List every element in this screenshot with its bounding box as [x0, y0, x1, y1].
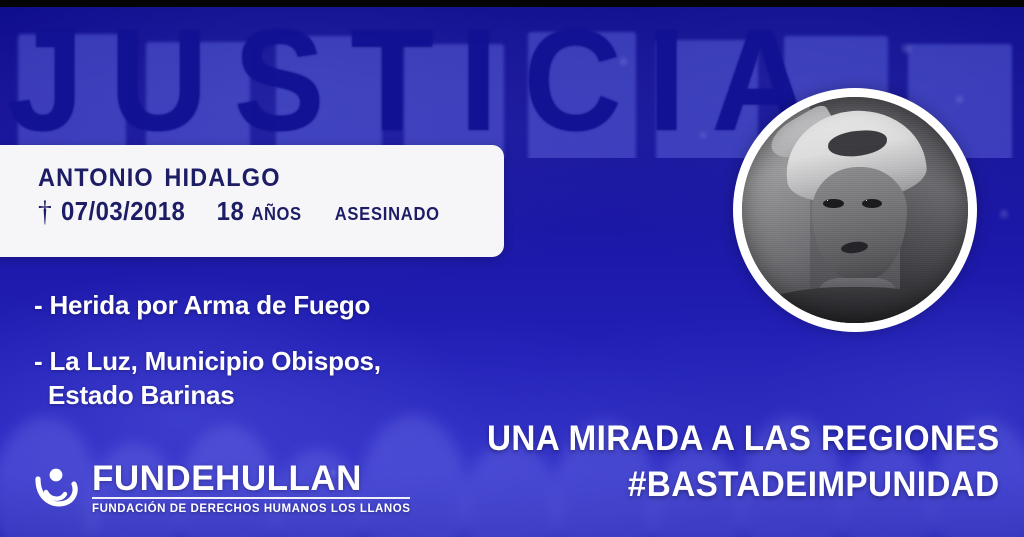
detail-line-location: - La Luz, Municipio Obispos, Estado Bari… — [34, 344, 381, 412]
top-letterbox-bar — [0, 0, 1024, 7]
fundehullan-figure-icon — [32, 462, 82, 512]
campaign-slogan: Una mirada a las regiones #BastaDeImpuni… — [460, 416, 1000, 508]
victim-name: Antonio Hidalgo — [38, 154, 476, 194]
victim-info-card: Antonio Hidalgo † 07/03/2018 18 Años Ase… — [0, 145, 504, 257]
victim-portrait-frame — [733, 88, 977, 332]
fundehullan-tagline: FUNDACIÓN DE DERECHOS HUMANOS LOS LLANOS — [92, 497, 410, 517]
fundehullan-logo-text: FUNDEHULLAN FUNDACIÓN DE DERECHOS HUMANO… — [92, 458, 410, 517]
poster-canvas: JUSTICIA Antonio Hidalgo † 07/03/2 — [0, 0, 1024, 537]
victim-portrait-photo — [742, 97, 968, 323]
campaign-hashtag: #BastaDeImpunidad — [487, 462, 1000, 508]
victim-age: 18 Años — [217, 196, 302, 226]
detail-line-cause: - Herida por Arma de Fuego — [34, 288, 381, 322]
victim-cause: Asesinado — [335, 196, 440, 226]
victim-details: - Herida por Arma de Fuego - La Luz, Mun… — [34, 288, 381, 412]
victim-meta-row: † 07/03/2018 18 Años Asesinado — [38, 196, 467, 226]
dagger-cross-icon: † — [38, 197, 52, 227]
victim-death-date: 07/03/2018 — [61, 196, 185, 226]
campaign-line-1: Una mirada a las regiones — [487, 416, 1000, 462]
fundehullan-name: FUNDEHULLAN — [92, 459, 362, 498]
fundehullan-logo: FUNDEHULLAN FUNDACIÓN DE DERECHOS HUMANO… — [32, 458, 410, 517]
